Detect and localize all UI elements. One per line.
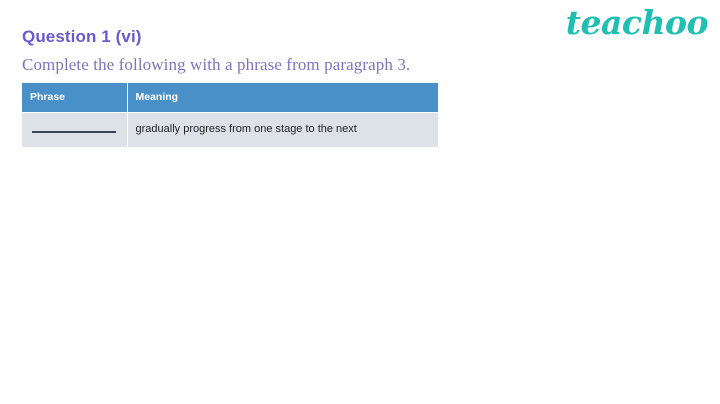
table-header-row: Phrase Meaning bbox=[22, 83, 438, 113]
page-canvas: teachoo Question 1 (vi) Complete the fol… bbox=[0, 0, 720, 404]
cell-meaning: gradually progress from one stage to the… bbox=[127, 112, 438, 147]
cell-phrase-answer[interactable] bbox=[22, 112, 127, 147]
answer-blank[interactable] bbox=[32, 122, 116, 133]
phrase-meaning-table: Phrase Meaning gradually progress from o… bbox=[22, 83, 438, 147]
question-content: Question 1 (vi) Complete the following w… bbox=[22, 26, 682, 147]
page-title: Question 1 (vi) bbox=[22, 26, 682, 47]
question-instruction: Complete the following with a phrase fro… bbox=[22, 54, 682, 75]
column-header-meaning: Meaning bbox=[127, 83, 438, 113]
table-row: gradually progress from one stage to the… bbox=[22, 112, 438, 147]
column-header-phrase: Phrase bbox=[22, 83, 127, 113]
